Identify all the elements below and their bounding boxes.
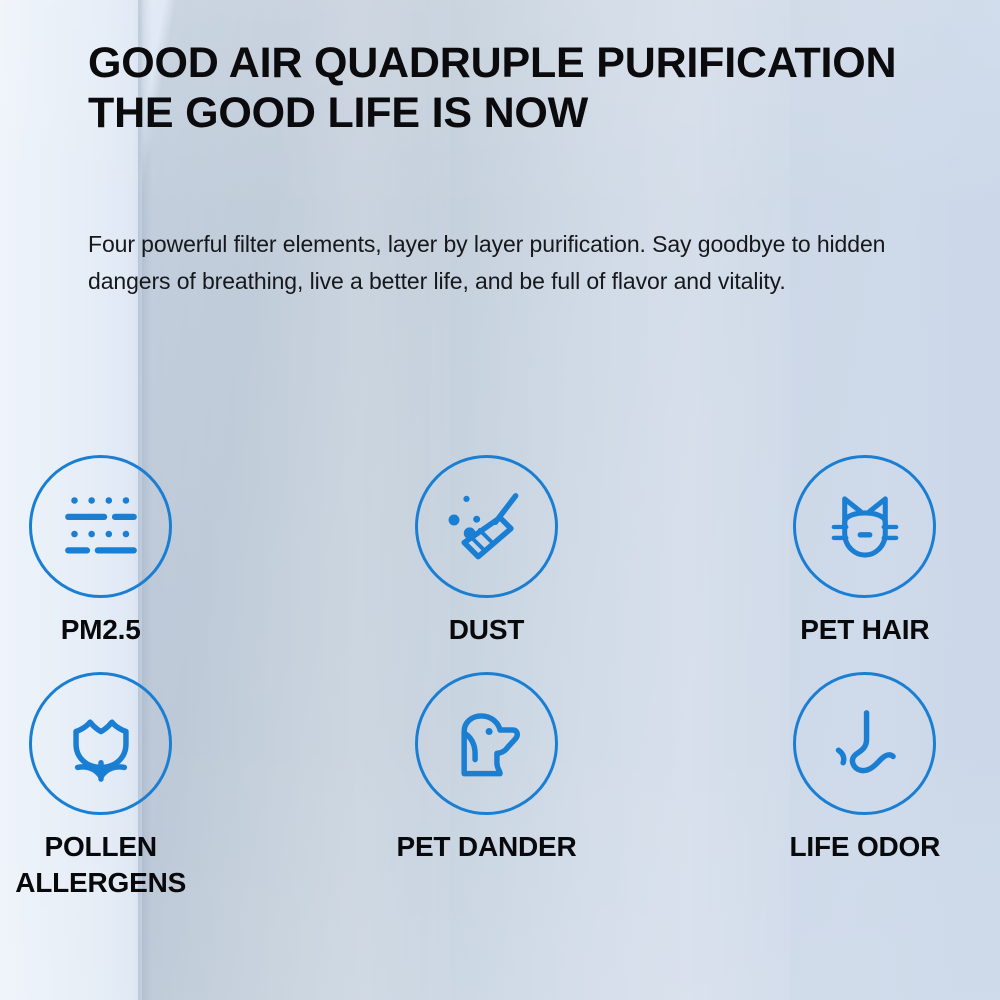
air-purifier-feature-banner: GOOD AIR QUADRUPLE PURIFICATION THE GOOD… — [0, 0, 1000, 1000]
dog-head-icon — [447, 705, 525, 783]
feature-label: DUST — [449, 612, 524, 648]
feature-icon-badge — [793, 455, 936, 598]
feature-label: LIFE ODOR — [790, 829, 941, 865]
feature-item-pollen-allergens: POLLEN ALLERGENS — [0, 672, 333, 901]
feature-item-pet-hair: PET HAIR — [730, 455, 1000, 648]
feature-item-pet-dander: PET DANDER — [306, 672, 666, 901]
feature-item-life-odor: LIFE ODOR — [730, 672, 1000, 901]
feature-icon-badge — [415, 455, 558, 598]
subheadline-paragraph: Four powerful filter elements, layer by … — [88, 226, 888, 300]
cat-face-icon — [826, 488, 904, 566]
feature-icon-badge — [29, 672, 172, 815]
flower-icon — [62, 705, 140, 783]
particles-icon — [62, 488, 140, 566]
feature-item-pm25: PM2.5 — [0, 455, 333, 648]
headline: GOOD AIR QUADRUPLE PURIFICATION THE GOOD… — [88, 38, 928, 138]
feature-label: PET HAIR — [800, 612, 929, 648]
feature-label: PET DANDER — [396, 829, 576, 865]
feature-label: POLLEN ALLERGENS — [15, 829, 186, 901]
feature-icon-badge — [415, 672, 558, 815]
feature-label: PM2.5 — [61, 612, 141, 648]
feature-item-dust: DUST — [306, 455, 666, 648]
feature-icon-badge — [29, 455, 172, 598]
feature-icon-badge — [793, 672, 936, 815]
nose-icon — [826, 705, 904, 783]
broom-icon — [447, 488, 525, 566]
banner-content: GOOD AIR QUADRUPLE PURIFICATION THE GOOD… — [0, 0, 1000, 1000]
feature-grid: PM2.5 — [0, 455, 1000, 901]
